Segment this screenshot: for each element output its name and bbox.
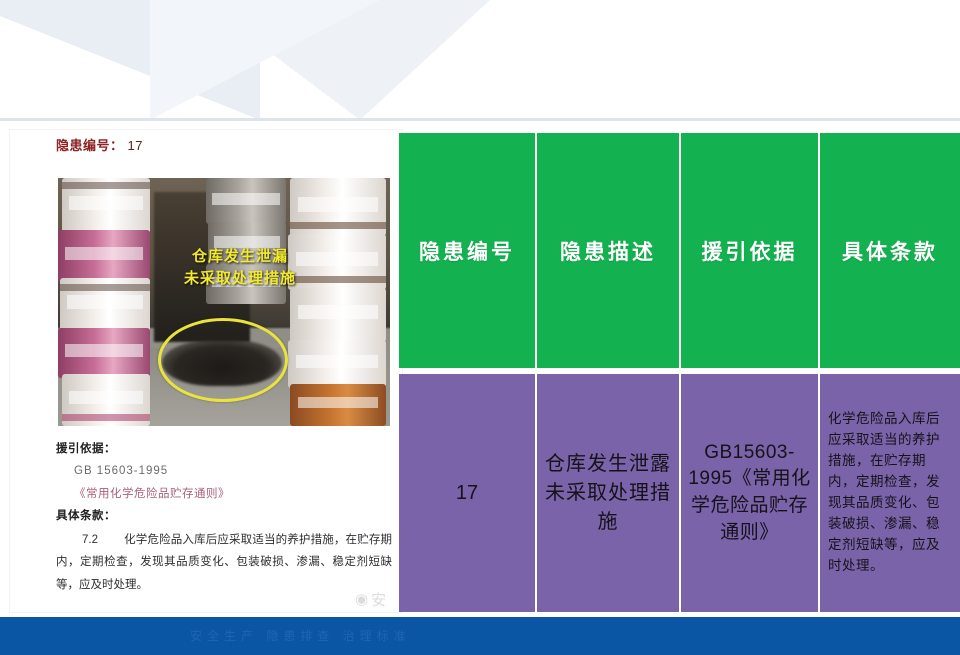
bottom-banner: 安全生产 隐患排查 治理标准 (0, 617, 960, 655)
photo-overlay-line-2: 未采取处理措施 (150, 268, 330, 290)
cell-description: 仓库发生泄露未采取处理措施 (537, 374, 681, 612)
clause-text: 化学危险品入库后应采取适当的养护措施，在贮存期内，定期检查，发现其品质变化、包装… (56, 534, 392, 591)
standard-title: 《常用化学危险品贮存通则》 (74, 483, 392, 505)
photo-overlay-caption: 仓库发生泄漏 未采取处理措施 (150, 246, 330, 290)
photo-drum (60, 278, 150, 332)
hazard-id-value: 17 (128, 138, 143, 153)
photo-drum (290, 384, 386, 426)
table-header-hazard-id: 隐患编号 (399, 133, 537, 368)
cell-hazard-id: 17 (399, 374, 537, 612)
hazard-photo: 仓库发生泄漏 未采取处理措施 (58, 178, 390, 426)
photo-drum (288, 340, 386, 388)
cell-clause: 化学危险品入库后应采取适当的养护措施，在贮存期内，定期检查，发现其品质变化、包装… (820, 374, 960, 612)
photo-drum (62, 178, 150, 234)
background-divider-line (0, 118, 960, 121)
table-header-description: 隐患描述 (537, 133, 681, 368)
standard-code: GB 15603-1995 (74, 460, 392, 482)
clause-paragraph: 7.2化学危险品入库后应采取适当的养护措施，在贮存期内，定期检查，发现其品质变化… (56, 529, 392, 596)
hazard-table: 隐患编号 隐患描述 援引依据 具体条款 17 仓库发生泄露未采取处理措施 GB1… (399, 133, 960, 612)
slide-canvas: 隐患编号：17 (0, 0, 960, 655)
cell-citation: GB15603-1995《常用化学危险品贮存通则》 (681, 374, 820, 612)
photo-overlay-line-1: 仓库发生泄漏 (150, 246, 330, 268)
table-header-row: 隐患编号 隐患描述 援引依据 具体条款 (399, 133, 960, 368)
clause-heading: 具体条款： (56, 505, 392, 527)
photo-drum-stack-right (284, 178, 390, 426)
table-header-clause: 具体条款 (820, 133, 960, 368)
photo-drum (290, 288, 386, 342)
hazard-id-heading: 隐患编号：17 (56, 135, 143, 154)
photo-drum (58, 230, 150, 282)
document-body-text: 援引依据： GB 15603-1995 《常用化学危险品贮存通则》 具体条款： … (56, 438, 392, 596)
table-header-citation: 援引依据 (681, 133, 820, 368)
photo-drum (58, 328, 150, 378)
background-triangle-right (150, 0, 380, 120)
clause-number: 7.2 (82, 534, 98, 546)
citation-heading: 援引依据： (56, 438, 392, 460)
photo-highlight-ellipse (158, 318, 288, 402)
photo-drum (62, 374, 150, 426)
document-panel: 隐患编号：17 (10, 130, 402, 612)
photo-drum (206, 178, 286, 224)
photo-drum-stack-left (58, 178, 154, 426)
photo-drum (290, 178, 386, 236)
hazard-id-label: 隐患编号： (56, 138, 124, 153)
bottom-banner-text: 安全生产 隐患排查 治理标准 (190, 627, 411, 644)
table-row: 17 仓库发生泄露未采取处理措施 GB15603-1995《常用化学危险品贮存通… (399, 374, 960, 612)
